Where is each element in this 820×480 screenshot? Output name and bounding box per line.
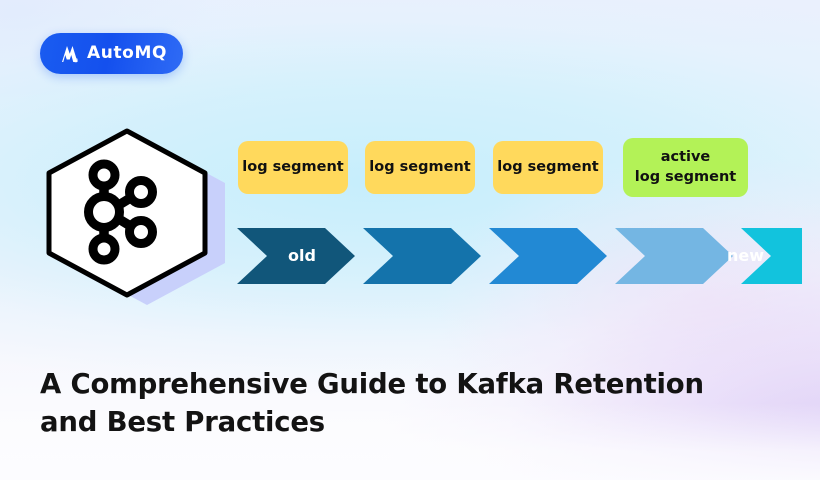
page-title: A Comprehensive Guide to Kafka Retention… <box>40 366 760 442</box>
chevron-arrow-3[interactable] <box>489 228 607 284</box>
kafka-hexagon-badge <box>42 128 232 308</box>
automq-wordmark: AutoMQ <box>87 45 167 62</box>
log-segment-label: log segment <box>242 158 343 178</box>
log-segment-label: log segment <box>369 158 470 178</box>
automq-m-mark-icon <box>56 43 80 65</box>
hexagon-outline <box>42 128 212 298</box>
active-segment-label-line1: active <box>661 148 711 168</box>
automq-logo-badge[interactable]: AutoMQ <box>40 33 183 74</box>
active-segment-label-line2: log segment <box>635 168 736 188</box>
banner-canvas: AutoMQ log segm <box>0 0 820 480</box>
chevron-arrow-4[interactable] <box>615 228 733 284</box>
active-log-segment-box[interactable]: active log segment <box>623 138 748 197</box>
retention-arrow-row: old new <box>232 225 802 287</box>
log-segment-label: log segment <box>497 158 598 178</box>
log-segment-box-1[interactable]: log segment <box>238 141 348 194</box>
chevron-arrow-2[interactable] <box>363 228 481 284</box>
arrow-label-old: old <box>288 248 316 264</box>
arrow-label-new: new <box>727 248 764 264</box>
log-segment-box-2[interactable]: log segment <box>365 141 475 194</box>
chevron-arrows <box>232 225 802 287</box>
log-segment-box-3[interactable]: log segment <box>493 141 603 194</box>
